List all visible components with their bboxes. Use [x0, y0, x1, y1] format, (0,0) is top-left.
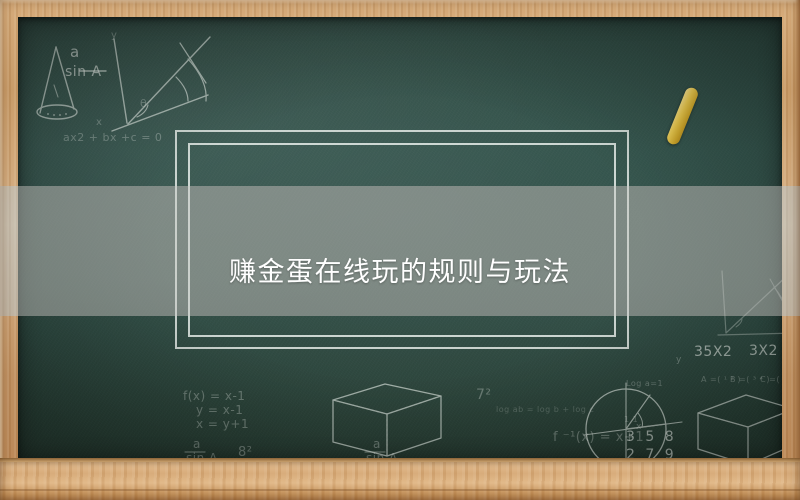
chalk-angle-theta-1: θ: [140, 97, 147, 110]
chalk-seven-squared: 7²: [476, 387, 492, 403]
chalk-function-line-1: f(x) = x-1: [183, 389, 245, 403]
chalk-a-over-sin-a-1-numerator: a: [70, 43, 80, 61]
chalk-function-line-3: x = y+1: [196, 417, 249, 431]
chalk-sum-carry: 1 1: [624, 415, 638, 424]
chalk-matrix-c: C =( ⁵ ⁶ ): [760, 375, 782, 384]
page-title: 赚金蛋在线玩的规则与玩法: [0, 204, 800, 334]
fraction-bar-2-icon: [183, 449, 213, 455]
chalk-axis-label-y-2: y: [676, 355, 682, 365]
frame-bevel-top: [0, 0, 800, 4]
chalk-log-label: Log a=1: [626, 379, 663, 388]
fraction-bar-3-icon: [363, 449, 393, 455]
cube-wireframe-2-icon: [690, 387, 782, 461]
chalk-quadratic-equation: ax2 + bx +c = 0: [63, 131, 162, 144]
chalkboard-scene: a sin A ax2 + bx +c = 0 y x θ f(x) = x-1…: [0, 0, 800, 500]
chalk-multiply-3x2: 3X2: [749, 343, 778, 359]
chalk-axis-label-y-1: y: [111, 30, 117, 41]
ledge-groove: [0, 489, 800, 491]
chalk-multiply-35x2: 35X2: [694, 344, 732, 360]
cube-wireframe-icon: [323, 372, 453, 457]
chalk-axis-label-x-1: x: [96, 117, 102, 128]
chalk-stick-yellow-diagonal: [665, 86, 700, 147]
chalk-function-line-2: y = x-1: [196, 403, 243, 417]
chalk-ledge: [0, 462, 800, 500]
chalk-sum-addend-1: 3 5 8: [626, 429, 677, 445]
chalk-sin-a-1-denominator: sin A: [65, 64, 102, 80]
